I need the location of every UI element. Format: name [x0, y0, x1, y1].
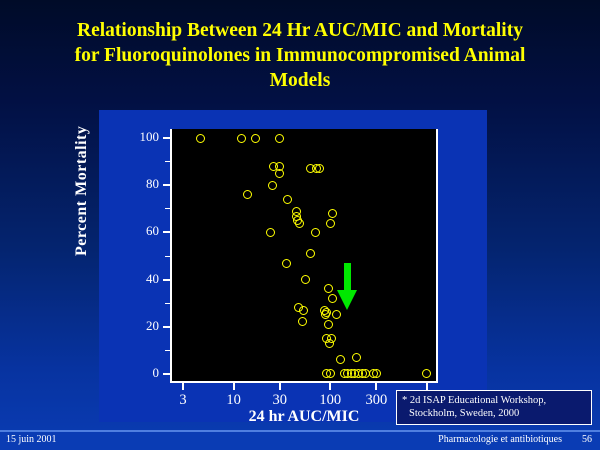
data-point — [283, 195, 292, 204]
title-line-3: Models — [14, 68, 586, 93]
y-tick-label: 60 — [146, 223, 159, 239]
y-tick: 20 — [163, 326, 171, 328]
x-tick — [426, 383, 428, 390]
y-tick-minor — [165, 161, 171, 162]
data-point — [311, 228, 320, 237]
y-tick: 80 — [163, 184, 171, 186]
y-tick-minor — [165, 256, 171, 257]
data-point — [328, 209, 337, 218]
y-tick-label: 20 — [146, 318, 159, 334]
footnote-line-1: * 2d ISAP Educational Workshop, — [402, 394, 586, 407]
data-point — [306, 249, 315, 258]
y-tick-label: 40 — [146, 271, 159, 287]
data-point — [324, 320, 333, 329]
data-point — [282, 259, 291, 268]
data-point — [372, 369, 381, 378]
y-tick: 100 — [163, 137, 171, 139]
data-point — [295, 219, 304, 228]
slide: Relationship Between 24 Hr AUC/MIC and M… — [0, 0, 600, 450]
y-tick-label: 0 — [153, 365, 160, 381]
slide-footer: 15 juin 2001 Pharmacologie et antibiotiq… — [0, 430, 600, 450]
x-tick-label: 3 — [179, 392, 186, 409]
x-tick — [329, 383, 331, 390]
x-tick — [279, 383, 281, 390]
data-point — [299, 306, 308, 315]
footer-subject: Pharmacologie et antibiotiques — [438, 434, 562, 445]
footer-divider — [0, 430, 600, 432]
data-point — [266, 228, 275, 237]
arrow-head — [337, 290, 357, 310]
y-tick: 60 — [163, 231, 171, 233]
y-tick-label: 80 — [146, 176, 159, 192]
plot-area — [170, 129, 438, 383]
y-tick-minor — [165, 350, 171, 351]
footer-date: 15 juin 2001 — [6, 434, 57, 445]
y-tick: 40 — [163, 279, 171, 281]
y-axis-label: Percent Mortality — [73, 126, 91, 256]
x-tick-label: 300 — [366, 392, 388, 409]
x-tick-label: 100 — [319, 392, 341, 409]
down-arrow-annotation-icon — [337, 263, 357, 310]
data-point — [325, 339, 334, 348]
x-tick — [233, 383, 235, 390]
page-title: Relationship Between 24 Hr AUC/MIC and M… — [14, 18, 586, 93]
y-tick-minor — [165, 208, 171, 209]
data-point — [268, 181, 277, 190]
footnote-line-2: Stockholm, Sweden, 2000 — [402, 407, 586, 420]
x-tick-label: 30 — [272, 392, 287, 409]
data-point — [332, 310, 341, 319]
x-tick-label: 10 — [226, 392, 241, 409]
title-line-1: Relationship Between 24 Hr AUC/MIC and M… — [14, 18, 586, 43]
data-point — [237, 134, 246, 143]
data-point — [326, 219, 335, 228]
arrow-stem — [344, 263, 351, 292]
y-tick-minor — [165, 303, 171, 304]
x-tick — [182, 383, 184, 390]
chart-panel: Percent Mortality 24 hr AUC/MIC 02040608… — [99, 110, 487, 422]
data-point — [298, 317, 307, 326]
y-tick: 0 — [163, 373, 171, 375]
data-point — [352, 353, 361, 362]
footnote-box: * 2d ISAP Educational Workshop, Stockhol… — [396, 390, 592, 425]
footer-page-number: 56 — [582, 434, 592, 445]
y-tick-label: 100 — [140, 129, 160, 145]
data-point — [328, 294, 337, 303]
x-tick — [375, 383, 377, 390]
title-line-2: for Fluoroquinolones in Immunocompromise… — [14, 43, 586, 68]
data-point — [422, 369, 431, 378]
